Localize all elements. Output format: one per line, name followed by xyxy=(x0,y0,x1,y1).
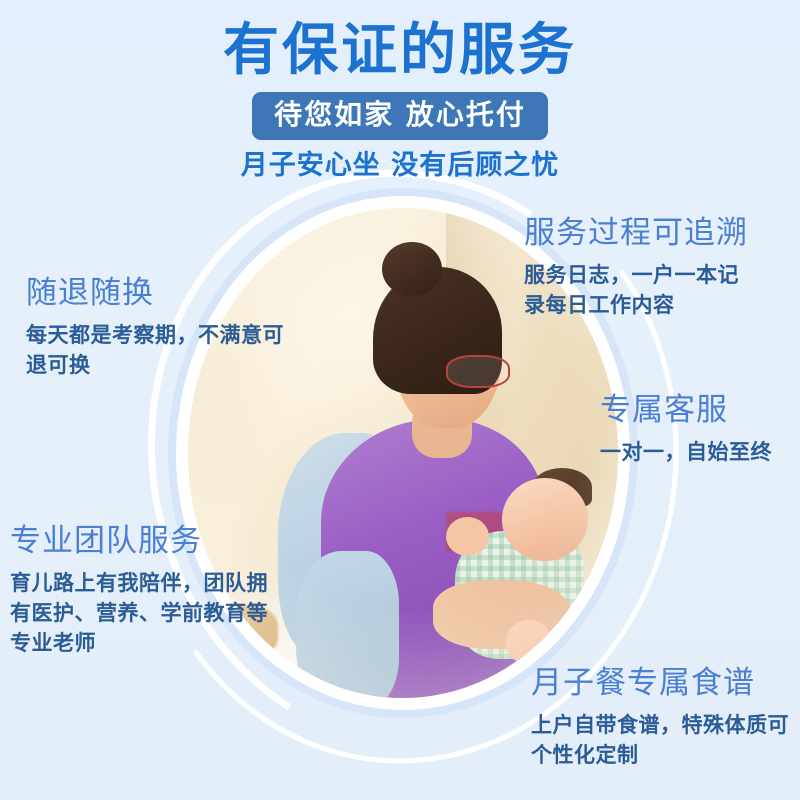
feature-body-line: 退可换 xyxy=(26,351,284,381)
feature-body-line: 录每日工作内容 xyxy=(524,291,748,321)
feature-return-exchange: 随退随换 每天都是考察期，不满意可 退可换 xyxy=(26,275,284,381)
feature-body-line: 有医护、营养、学前教育等 xyxy=(10,599,268,629)
promotional-poster: 有保证的服务 待您如家 放心托付 月子安心坐 没有后顾之忧 随退 xyxy=(0,0,800,800)
feature-body-line: 一对一，自始至终 xyxy=(600,438,772,468)
feature-body-line: 育儿路上有我陪伴，团队拥 xyxy=(10,569,268,599)
feature-body: 上户自带食谱，特殊体质可 个性化定制 xyxy=(531,711,789,771)
feature-body: 育儿路上有我陪伴，团队拥 有医护、营养、学前教育等 专业老师 xyxy=(10,569,268,658)
feature-heading: 专属客服 xyxy=(600,392,772,429)
feature-body-line: 每天都是考察期，不满意可 xyxy=(26,321,284,351)
feature-body-line: 专业老师 xyxy=(10,629,268,659)
feature-traceable-service: 服务过程可追溯 服务日志，一户一本记 录每日工作内容 xyxy=(524,215,748,321)
feature-body-line: 上户自带食谱，特殊体质可 xyxy=(531,711,789,741)
feature-body: 一对一，自始至终 xyxy=(600,438,772,468)
poster-header: 有保证的服务 待您如家 放心托付 月子安心坐 没有后顾之忧 xyxy=(0,0,800,183)
feature-heading: 专业团队服务 xyxy=(10,523,268,560)
tagline-badge: 待您如家 放心托付 xyxy=(252,92,548,140)
feature-heading: 月子餐专属食谱 xyxy=(531,665,789,702)
page-title: 有保证的服务 xyxy=(0,0,800,84)
feature-body: 每天都是考察期，不满意可 退可换 xyxy=(26,321,284,381)
feature-body: 服务日志，一户一本记 录每日工作内容 xyxy=(524,261,748,321)
feature-heading: 服务过程可追溯 xyxy=(524,215,748,252)
badge-wrapper: 待您如家 放心托付 xyxy=(0,92,800,140)
feature-heading: 随退随换 xyxy=(26,275,284,312)
feature-professional-team: 专业团队服务 育儿路上有我陪伴，团队拥 有医护、营养、学前教育等 专业老师 xyxy=(10,523,268,659)
feature-body-line: 服务日志，一户一本记 xyxy=(524,261,748,291)
feature-dedicated-support: 专属客服 一对一，自始至终 xyxy=(600,392,772,468)
feature-body-line: 个性化定制 xyxy=(531,741,789,771)
feature-postpartum-menu: 月子餐专属食谱 上户自带食谱，特殊体质可 个性化定制 xyxy=(531,665,789,771)
subtitle: 月子安心坐 没有后顾之忧 xyxy=(0,150,800,182)
